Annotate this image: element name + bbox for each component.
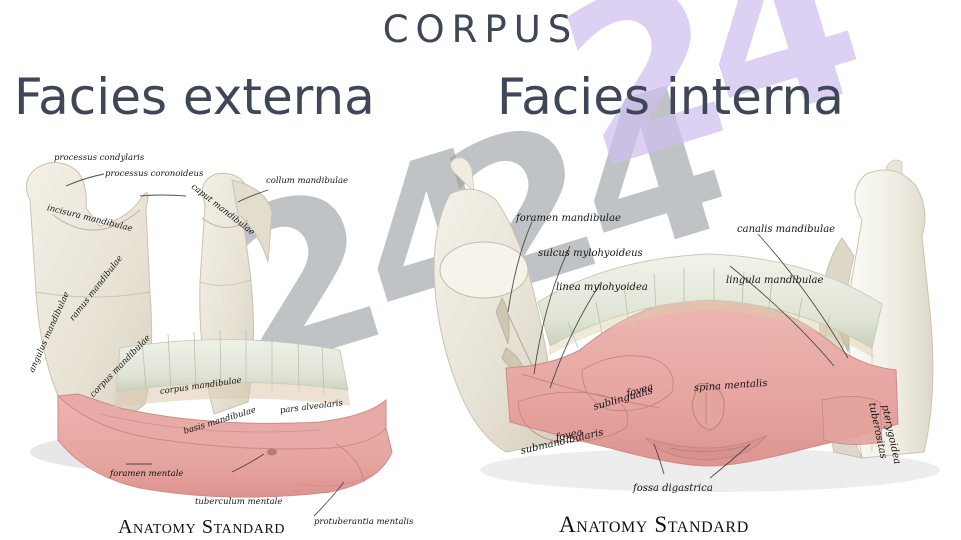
label-fossa-digastrica: fossa digastrica (633, 484, 713, 494)
mandible-internal-view-figure (410, 152, 961, 530)
label-processus-coronoideus: processus coronoideus (105, 170, 203, 179)
mandible-internal-svg (410, 152, 961, 530)
label-protuberantia-mentalis: protuberantia mentalis (314, 518, 413, 527)
brand-watermark-right: Anatomy Standard (559, 512, 749, 538)
illustration-canvas: 24 24 (0, 0, 961, 540)
page-title: CORPUS (0, 8, 961, 51)
label-foramen-mandibulae: foramen mandibulae (516, 214, 621, 224)
label-foramen-mentale: foramen mentale (110, 470, 183, 479)
label-canalis-mandibulae: canalis mandibulae (737, 225, 835, 235)
brand-watermark-left: Anatomy Standard (118, 516, 285, 539)
heading-facies-interna: Facies interna (497, 68, 844, 126)
label-tuberculum-mentale: tuberculum mentale (195, 498, 282, 507)
heading-facies-externa: Facies externa (14, 68, 375, 126)
label-processus-condylaris: processus condylaris (54, 154, 144, 163)
label-collum-mandibulae: collum mandibulae (266, 177, 348, 186)
label-lingula-mandibulae: lingula mandibulae (726, 276, 823, 286)
label-sulcus-mylohyoideus: sulcus mylohyoideus (538, 249, 643, 259)
label-linea-mylohyoidea: linea mylohyoidea (556, 283, 648, 293)
